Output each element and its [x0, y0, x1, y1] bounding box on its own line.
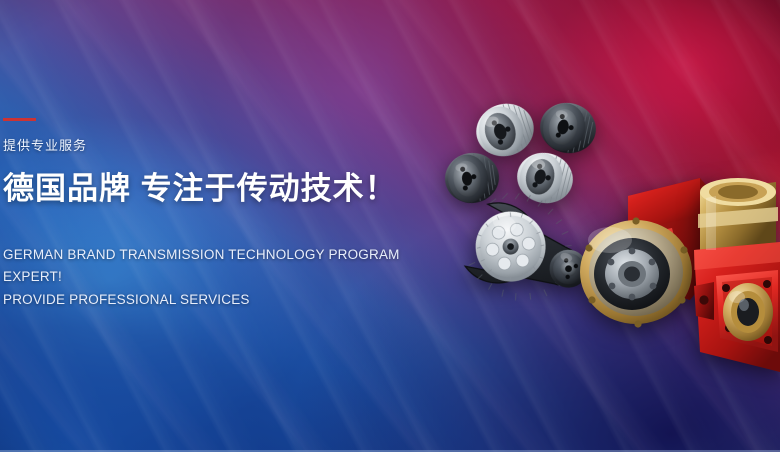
hero-banner: 提供专业服务 德国品牌 专注于传动技术！ GERMAN BRAND TRANSM…: [0, 0, 780, 452]
eyebrow-text: 提供专业服务: [3, 139, 423, 152]
page-title: 德国品牌 专注于传动技术！: [3, 172, 423, 206]
timing-belt-drive-assembly: [460, 183, 606, 322]
right-angle-gearbox-rear: [580, 178, 716, 328]
english-tagline-1: GERMAN BRAND TRANSMISSION TECHNOLOGY PRO…: [3, 244, 423, 289]
accent-rule: [3, 118, 36, 121]
timing-pulley-dark-mid-left: [442, 149, 502, 206]
english-tagline-2: PROVIDE PROFESSIONAL SERVICES: [3, 289, 423, 311]
timing-pulley-silver-upper-left: [469, 96, 540, 163]
timing-pulley-silver-mid-right: [512, 147, 578, 209]
right-angle-gearbox-front: [694, 178, 780, 372]
timing-pulley-dark-upper-right: [535, 98, 600, 159]
hero-copy-block: 提供专业服务 德国品牌 专注于传动技术！ GERMAN BRAND TRANSM…: [3, 118, 423, 311]
